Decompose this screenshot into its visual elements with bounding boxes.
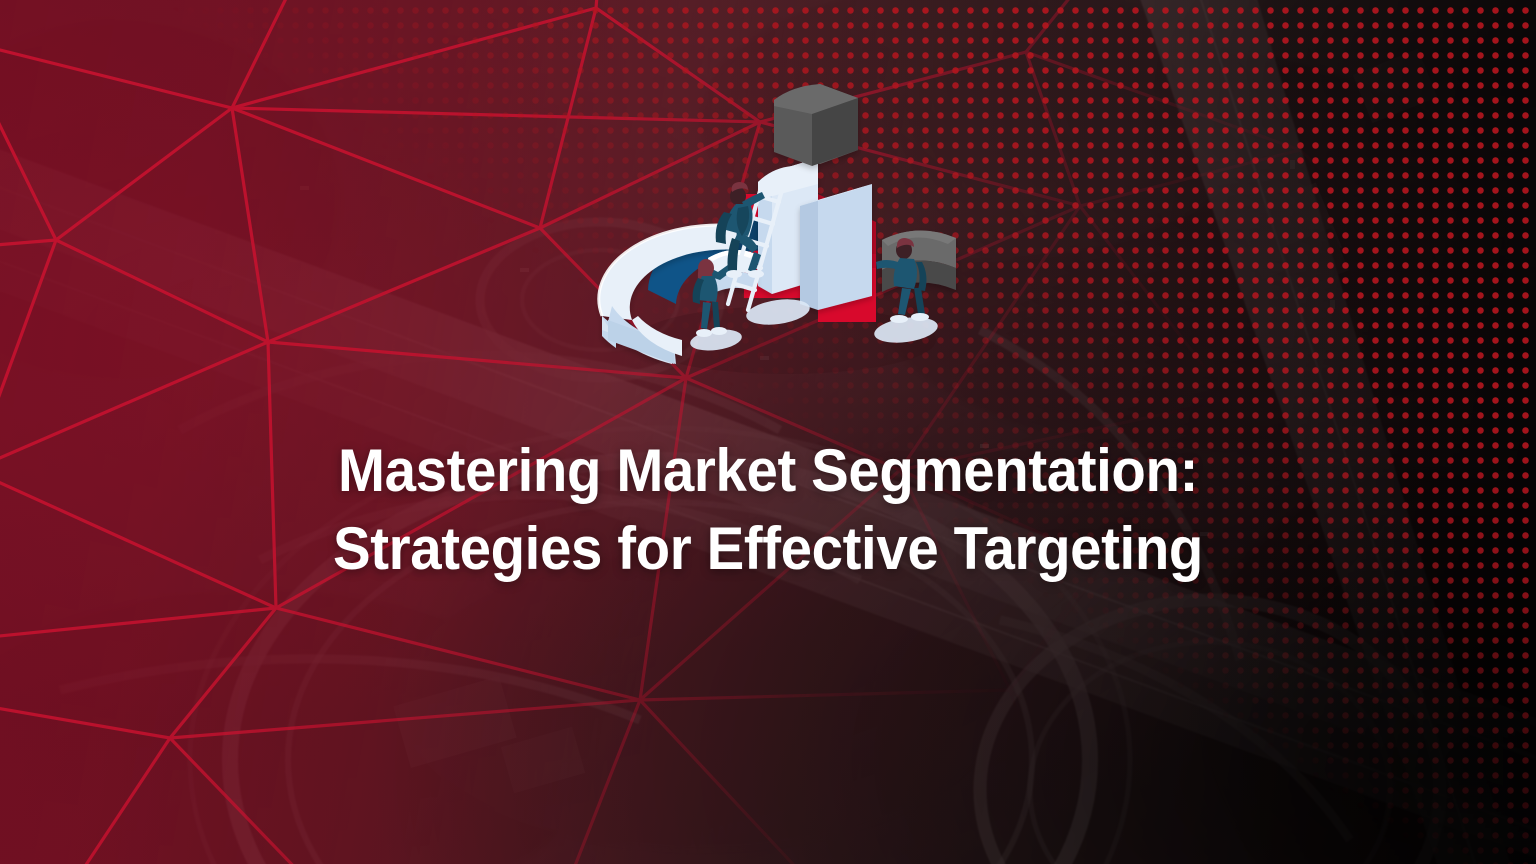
- page-title: Mastering Market Segmentation: Strategie…: [0, 432, 1536, 588]
- title-slide: Mastering Market Segmentation: Strategie…: [0, 0, 1536, 864]
- bar-block-gray-top: [774, 84, 858, 166]
- title-line-1: Mastering Market Segmentation:: [187, 432, 1349, 510]
- isometric-market-segmentation-illustration: [586, 72, 986, 382]
- title-line-2: Strategies for Effective Targeting: [187, 510, 1349, 588]
- bar-block-light-blue: [800, 184, 872, 310]
